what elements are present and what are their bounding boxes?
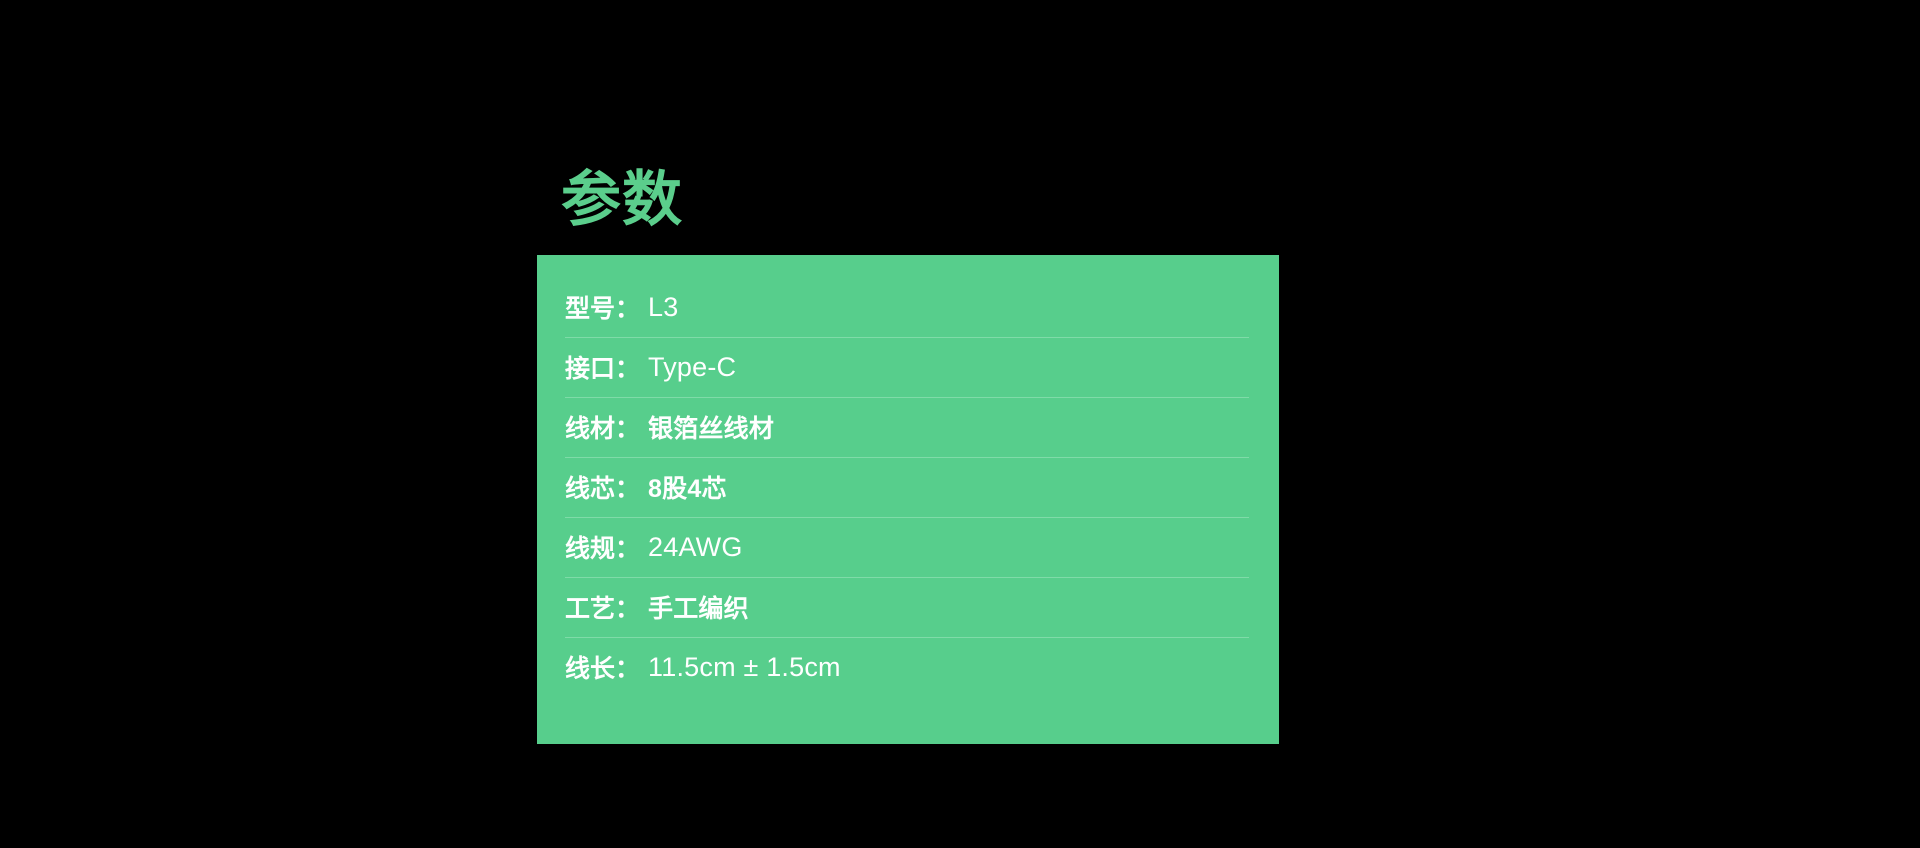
spec-value: Type-C [648, 352, 736, 383]
spec-value: 银箔丝线材 [648, 409, 774, 445]
spec-row: 接口：Type-C [565, 337, 1249, 397]
specification-list: 型号：L3接口：Type-C线材：银箔丝线材线芯：8股4芯线规：24AWG工艺：… [565, 255, 1249, 697]
spec-label: 线长 [565, 649, 615, 685]
spec-row: 线规：24AWG [565, 517, 1249, 577]
spec-label: 线芯 [565, 469, 615, 505]
spec-value: L3 [648, 292, 678, 323]
spec-label: 线材 [565, 409, 615, 445]
spec-label: 工艺 [565, 589, 615, 625]
spec-row: 型号：L3 [565, 277, 1249, 337]
spec-separator: ： [615, 289, 640, 325]
spec-separator: ： [615, 349, 640, 385]
spec-separator: ： [615, 589, 640, 625]
spec-value: 手工编织 [648, 589, 749, 625]
spec-row: 工艺：手工编织 [565, 577, 1249, 637]
spec-value: 24AWG [648, 532, 743, 563]
page-title: 参数 [561, 166, 683, 233]
spec-row: 线材：银箔丝线材 [565, 397, 1249, 457]
spec-value: 8股4芯 [648, 469, 727, 505]
product-spec-page: 参数 型号：L3接口：Type-C线材：银箔丝线材线芯：8股4芯线规：24AWG… [0, 0, 1920, 848]
spec-row: 线长：11.5cm ± 1.5cm [565, 637, 1249, 697]
spec-separator: ： [615, 649, 640, 685]
spec-label: 型号 [565, 289, 615, 325]
specification-panel: 型号：L3接口：Type-C线材：银箔丝线材线芯：8股4芯线规：24AWG工艺：… [537, 255, 1279, 744]
spec-label: 接口 [565, 349, 615, 385]
spec-separator: ： [615, 409, 640, 445]
spec-value: 11.5cm ± 1.5cm [648, 652, 841, 683]
spec-separator: ： [615, 529, 640, 565]
spec-label: 线规 [565, 529, 615, 565]
spec-row: 线芯：8股4芯 [565, 457, 1249, 517]
spec-separator: ： [615, 469, 640, 505]
